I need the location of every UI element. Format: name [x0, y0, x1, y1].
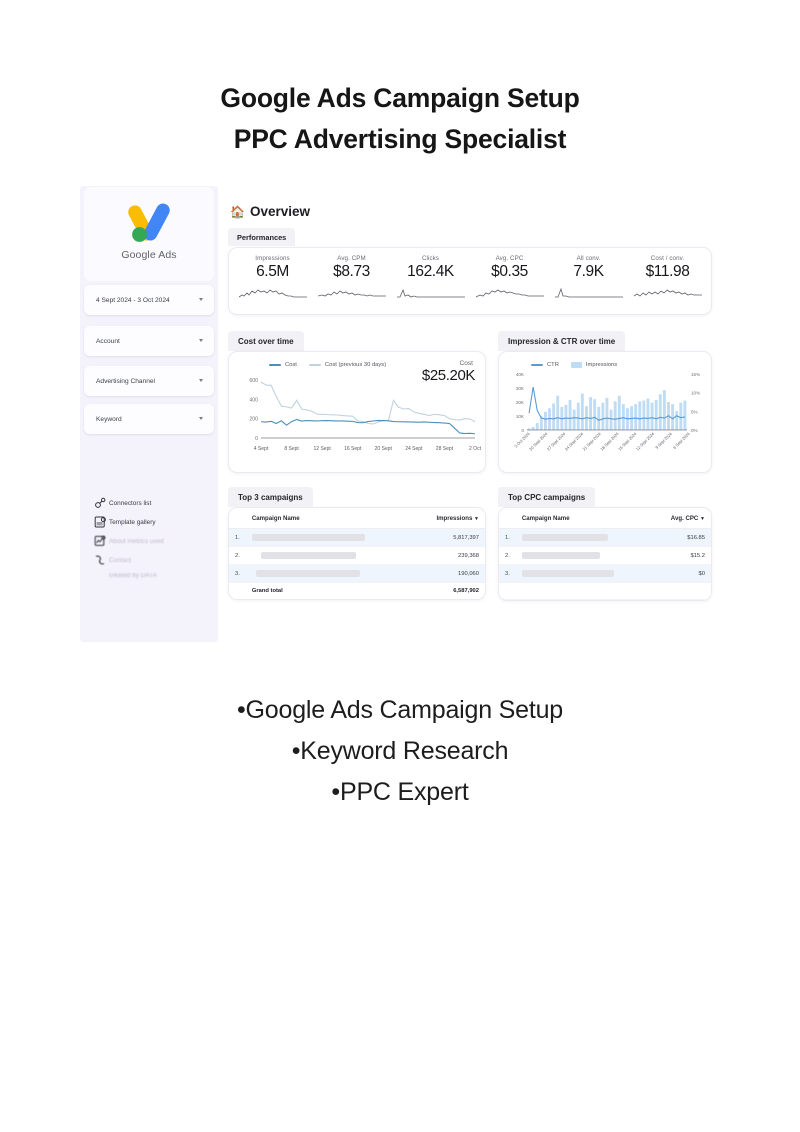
cost-over-time-title: Cost over time — [228, 331, 304, 351]
sidebar-link-label: Template gallery — [109, 519, 156, 526]
svg-text:20 Sept: 20 Sept — [375, 446, 393, 452]
dashboard-sidebar: Google Ads 4 Sept 2024 - 3 Oct 2024 Acco… — [80, 186, 218, 642]
redacted-name — [522, 534, 608, 541]
sort-desc-icon: ▼ — [474, 516, 479, 522]
impression-ctr-block: Impression & CTR over time CTR Impressio… — [498, 331, 712, 473]
chevron-down-icon — [199, 339, 203, 342]
redacted-name — [522, 552, 600, 559]
svg-text:6 Sept 2024: 6 Sept 2024 — [672, 431, 691, 450]
bullet-item: •Keyword Research — [0, 731, 800, 772]
connectors-icon — [94, 497, 109, 510]
row-campaign-name — [516, 529, 626, 547]
filter-keyword-label: Keyword — [84, 416, 122, 423]
row-avg-cpc: $15.2 — [626, 547, 711, 565]
filter-advertising-channel[interactable]: Advertising Channel — [84, 366, 214, 396]
headline-line-1: Google Ads Campaign Setup — [0, 78, 800, 119]
redacted-name — [252, 534, 365, 541]
svg-text:10%: 10% — [691, 391, 700, 396]
svg-text:0: 0 — [255, 436, 258, 442]
kpi-label: Avg. CPC — [470, 255, 549, 262]
kpi-value: 7.9K — [549, 263, 628, 281]
total-value: 6,587,902 — [371, 583, 485, 600]
table-row[interactable]: 1. $16.85 — [499, 529, 711, 547]
kpi-cost-per-conv: Cost / conv. $11.98 — [628, 255, 707, 314]
cost-total-value: $25.20K — [395, 367, 475, 384]
table-row[interactable]: 1. 5,817,397 — [229, 529, 485, 547]
kpi-value: $11.98 — [628, 263, 707, 281]
topcpc-block: Top CPC campaigns Campaign Name Avg. CPC… — [498, 487, 712, 601]
svg-text:8 Sept: 8 Sept — [284, 446, 299, 452]
svg-text:12 Sept 2024: 12 Sept 2024 — [635, 431, 656, 452]
kpi-value: $8.73 — [312, 263, 391, 281]
chevron-down-icon — [199, 417, 203, 420]
top3-campaigns-table: Campaign Name Impressions ▼ 1. — [228, 507, 486, 600]
row-campaign-name — [246, 529, 371, 547]
sidebar-link-contact[interactable]: Contact — [94, 551, 214, 570]
impression-chart-plot: 010K20K30K40K0%5%10%15%3 Oct 202430 Sept… — [505, 368, 707, 460]
total-label: Grand total — [246, 583, 371, 600]
tables-row: Top 3 campaigns Campaign Name Impression… — [228, 487, 712, 601]
house-icon: 🏠 — [230, 205, 245, 219]
filter-account[interactable]: Account — [84, 326, 214, 356]
row-impressions: 239,368 — [371, 547, 485, 565]
kpi-value: $0.35 — [470, 263, 549, 281]
kpi-avg-cpc: Avg. CPC $0.35 — [470, 255, 549, 314]
kpi-clicks: Clicks 162.4K — [391, 255, 470, 314]
row-avg-cpc: $16.85 — [626, 529, 711, 547]
top3-block: Top 3 campaigns Campaign Name Impression… — [228, 487, 486, 601]
google-ads-dashboard: Google Ads 4 Sept 2024 - 3 Oct 2024 Acco… — [80, 186, 712, 642]
sidebar-links: Connectors list Template gallery — [94, 494, 214, 579]
svg-text:3 Oct 2024: 3 Oct 2024 — [513, 431, 531, 449]
sidebar-link-template-gallery[interactable]: Template gallery — [94, 513, 214, 532]
th-avg-cpc[interactable]: Avg. CPC ▼ — [626, 508, 711, 529]
service-bullets: •Google Ads Campaign Setup •Keyword Rese… — [0, 690, 800, 813]
svg-text:24 Sept: 24 Sept — [405, 446, 423, 452]
svg-text:20K: 20K — [516, 400, 525, 405]
kpi-value: 162.4K — [391, 263, 470, 281]
redacted-name — [522, 570, 614, 577]
cost-over-time-chart: Cost $25.20K Cost Cost (previous 30 days… — [228, 351, 486, 473]
row-impressions: 5,817,397 — [371, 529, 485, 547]
brand-card: Google Ads — [84, 187, 214, 281]
chart-row: Cost over time Cost $25.20K Cost Cost (p… — [228, 331, 712, 473]
bullet-item: •Google Ads Campaign Setup — [0, 690, 800, 731]
table-row[interactable]: 2. $15.2 — [499, 547, 711, 565]
redacted-name — [261, 552, 356, 559]
impression-chart-legend: CTR Impressions — [505, 357, 705, 368]
sidebar-link-label: Connectors list — [109, 500, 151, 507]
th-index — [499, 508, 516, 529]
kpi-sparkline — [555, 286, 623, 300]
kpi-label: Clicks — [391, 255, 470, 262]
page-title-text: Overview — [250, 204, 310, 219]
row-index: 2. — [229, 547, 246, 565]
row-impressions: 190,060 — [371, 565, 485, 583]
filter-keyword[interactable]: Keyword — [84, 404, 214, 434]
kpi-sparkline — [397, 286, 465, 300]
svg-text:30K: 30K — [516, 386, 525, 391]
cost-over-time-block: Cost over time Cost $25.20K Cost Cost (p… — [228, 331, 486, 473]
svg-text:28 Sept: 28 Sept — [436, 446, 454, 452]
table-row[interactable]: 3. 190,060 — [229, 565, 485, 583]
svg-text:400: 400 — [249, 397, 258, 403]
legend-swatch-icon — [531, 364, 543, 366]
svg-text:12 Sept: 12 Sept — [314, 446, 332, 452]
filter-advertising-channel-label: Advertising Channel — [84, 378, 155, 385]
redacted-name — [256, 570, 360, 577]
kpi-scorecard-panel: Impressions 6.5M Avg. CPM $8.73 Clicks 1… — [228, 247, 712, 315]
metrics-icon — [94, 535, 109, 548]
legend-swatch-icon — [309, 364, 321, 366]
kpi-avg-cpm: Avg. CPM $8.73 — [312, 255, 391, 314]
sidebar-link-label: About metrics used — [109, 538, 164, 545]
th-campaign-name[interactable]: Campaign Name — [246, 508, 371, 529]
svg-text:4 Sept: 4 Sept — [254, 446, 269, 452]
row-campaign-name — [246, 565, 371, 583]
cost-total-label: Cost — [403, 360, 473, 367]
svg-text:600: 600 — [249, 378, 258, 384]
table-header-row: Campaign Name Avg. CPC ▼ — [499, 508, 711, 529]
chevron-down-icon — [199, 379, 203, 382]
filler-cell — [499, 583, 516, 600]
impression-ctr-title: Impression & CTR over time — [498, 331, 625, 351]
dashboard-main: 🏠 Overview Performances Impressions 6.5M… — [228, 186, 712, 601]
row-index: 1. — [499, 529, 516, 547]
chevron-down-icon — [199, 298, 203, 301]
headline-line-2: PPC Advertising Specialist — [0, 119, 800, 160]
filter-account-label: Account — [84, 338, 120, 345]
svg-text:2 Oct: 2 Oct — [469, 446, 481, 452]
filler-cell — [626, 583, 711, 600]
sidebar-link-connectors-list[interactable]: Connectors list — [94, 494, 214, 513]
top-cpc-campaigns-table: Campaign Name Avg. CPC ▼ 1. — [498, 507, 712, 601]
sidebar-link-about-metrics-used[interactable]: About metrics used — [94, 532, 214, 551]
svg-text:200: 200 — [249, 417, 258, 423]
kpi-all-conv: All conv. 7.9K — [549, 255, 628, 314]
th-avg-cpc-label: Avg. CPC — [671, 515, 699, 522]
row-avg-cpc: $0 — [626, 565, 711, 583]
kpi-impressions: Impressions 6.5M — [233, 255, 312, 314]
table-row[interactable]: 3. $0 — [499, 565, 711, 583]
contact-icon — [94, 554, 109, 567]
row-campaign-name — [246, 547, 371, 565]
kpi-label: All conv. — [549, 255, 628, 262]
row-index: 2. — [499, 547, 516, 565]
th-index — [229, 508, 246, 529]
svg-text:0%: 0% — [691, 428, 698, 433]
row-index: 3. — [499, 565, 516, 583]
impression-ctr-chart: CTR Impressions 010K20K30K40K0%5%10%15%3… — [498, 351, 712, 473]
table-row[interactable]: 2. 239,368 — [229, 547, 485, 565]
sort-desc-icon: ▼ — [700, 516, 705, 522]
sidebar-credit: created by DATA — [109, 573, 214, 579]
kpi-label: Avg. CPM — [312, 255, 391, 262]
kpi-sparkline — [239, 286, 307, 300]
row-index: 3. — [229, 565, 246, 583]
svg-text:40K: 40K — [516, 372, 525, 377]
row-campaign-name — [516, 565, 626, 583]
kpi-value: 6.5M — [233, 263, 312, 281]
google-ads-logo — [123, 196, 175, 248]
table-total-row: Grand total 6,587,902 — [229, 583, 485, 600]
kpi-label: Cost / conv. — [628, 255, 707, 262]
bullet-item: •PPC Expert — [0, 772, 800, 813]
table-filler-row — [499, 583, 711, 600]
svg-text:5%: 5% — [691, 409, 698, 414]
gallery-icon — [94, 516, 109, 529]
svg-text:15%: 15% — [691, 372, 700, 377]
legend-swatch-icon — [269, 364, 281, 366]
svg-text:16 Sept: 16 Sept — [344, 446, 362, 452]
table-header-row: Campaign Name Impressions ▼ — [229, 508, 485, 529]
svg-text:0: 0 — [521, 428, 524, 433]
kpi-sparkline — [476, 286, 544, 300]
row-campaign-name — [516, 547, 626, 565]
svg-text:9 Sept 2024: 9 Sept 2024 — [654, 431, 673, 450]
top3-title: Top 3 campaigns — [228, 487, 313, 507]
page-headline: Google Ads Campaign Setup PPC Advertisin… — [0, 78, 800, 160]
filler-cell — [516, 583, 626, 600]
row-index: 1. — [229, 529, 246, 547]
kpi-label: Impressions — [233, 255, 312, 262]
kpi-sparkline — [634, 286, 702, 300]
th-impressions[interactable]: Impressions ▼ — [371, 508, 485, 529]
sidebar-link-label: Contact — [109, 557, 131, 564]
tab-performances[interactable]: Performances — [228, 228, 295, 246]
filter-date-range[interactable]: 4 Sept 2024 - 3 Oct 2024 — [84, 285, 214, 315]
page-title: 🏠 Overview — [230, 204, 712, 219]
filter-date-range-label: 4 Sept 2024 - 3 Oct 2024 — [84, 297, 170, 304]
th-campaign-name[interactable]: Campaign Name — [516, 508, 626, 529]
total-index — [229, 583, 246, 600]
svg-text:10K: 10K — [516, 414, 525, 419]
topcpc-title: Top CPC campaigns — [498, 487, 595, 507]
brand-label: Google Ads — [84, 249, 214, 261]
kpi-sparkline — [318, 286, 386, 300]
th-impressions-label: Impressions — [436, 515, 472, 522]
